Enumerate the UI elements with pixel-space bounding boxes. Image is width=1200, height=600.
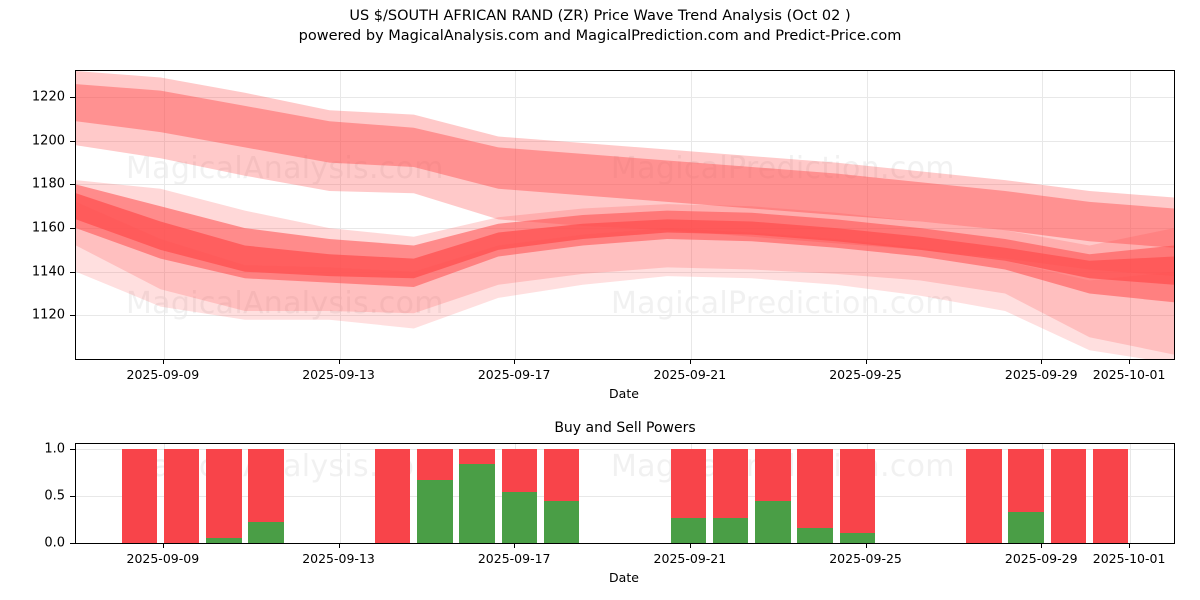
buy-power-segment <box>671 518 706 543</box>
sell-power-segment <box>1093 449 1128 543</box>
buy-power-segment <box>206 538 241 543</box>
power-bar[interactable] <box>1051 449 1086 543</box>
power-bar[interactable] <box>797 449 832 543</box>
buy-power-segment <box>797 528 832 543</box>
buy-sell-powers-plot: MagicalAnalysis.comMagicalPrediction.com <box>75 443 1175 544</box>
power-bar[interactable] <box>122 449 157 543</box>
sell-power-segment <box>206 449 241 543</box>
power-bar[interactable] <box>966 449 1001 543</box>
buy-power-segment <box>840 533 875 543</box>
buy-power-segment <box>755 501 790 543</box>
x-tick-label: 2025-09-17 <box>478 551 551 566</box>
x-tick-mark <box>1129 544 1130 548</box>
x-tick-label: 2025-09-29 <box>1005 551 1078 566</box>
x-tick-label: 2025-09-29 <box>1005 367 1078 382</box>
sell-power-segment <box>164 449 199 543</box>
power-bar[interactable] <box>544 449 579 543</box>
power-bar[interactable] <box>375 449 410 543</box>
x-tick-label: 2025-09-09 <box>127 367 200 382</box>
x-tick-mark <box>690 544 691 548</box>
power-bar[interactable] <box>459 449 494 543</box>
y-tick-label: 0.5 <box>44 488 65 503</box>
sell-power-segment <box>966 449 1001 543</box>
page-title: US $/SOUTH AFRICAN RAND (ZR) Price Wave … <box>0 6 1200 46</box>
y-tick-label: 1120 <box>32 308 65 323</box>
x-tick-mark <box>866 360 867 364</box>
buy-power-segment <box>417 480 452 543</box>
power-bar[interactable] <box>206 449 241 543</box>
x-tick-label: 2025-09-09 <box>127 551 200 566</box>
x-tick-label: 2025-09-25 <box>829 367 902 382</box>
x-tick-mark <box>514 544 515 548</box>
x-tick-mark <box>339 360 340 364</box>
sell-power-segment <box>1051 449 1086 543</box>
y-tick-label: 1200 <box>32 133 65 148</box>
x-tick-label: 2025-09-21 <box>654 551 727 566</box>
x-tick-label: 2025-09-25 <box>829 551 902 566</box>
sell-power-segment <box>375 449 410 543</box>
x-tick-mark <box>514 360 515 364</box>
buy-power-segment <box>1008 512 1043 543</box>
sell-power-segment <box>122 449 157 543</box>
x-tick-mark <box>339 544 340 548</box>
y-tick-label: 0.0 <box>44 536 65 551</box>
power-bar[interactable] <box>840 449 875 543</box>
power-y-axis-ticks: 0.00.51.0 <box>0 443 75 544</box>
power-bar[interactable] <box>671 449 706 543</box>
x-tick-mark <box>1041 544 1042 548</box>
y-tick-label: 1160 <box>32 221 65 236</box>
x-tick-mark <box>866 544 867 548</box>
power-bar[interactable] <box>1008 449 1043 543</box>
y-tick-label: 1180 <box>32 177 65 192</box>
y-tick-label: 1.0 <box>44 441 65 456</box>
chart-page: US $/SOUTH AFRICAN RAND (ZR) Price Wave … <box>0 0 1200 600</box>
buy-power-segment <box>248 522 283 543</box>
sell-power-segment <box>840 449 875 543</box>
buy-power-segment <box>544 501 579 543</box>
x-tick-mark <box>1129 360 1130 364</box>
title-line-1: US $/SOUTH AFRICAN RAND (ZR) Price Wave … <box>0 6 1200 26</box>
x-tick-label: 2025-09-21 <box>654 367 727 382</box>
y-tick-label: 1220 <box>32 90 65 105</box>
power-bar[interactable] <box>1093 449 1128 543</box>
power-bar[interactable] <box>248 449 283 543</box>
price-wave-bands <box>76 71 1174 359</box>
power-bar[interactable] <box>502 449 537 543</box>
price-x-axis-title: Date <box>75 386 1173 401</box>
x-tick-label: 2025-09-13 <box>302 367 375 382</box>
buy-power-segment <box>713 518 748 543</box>
x-tick-label: 2025-09-13 <box>302 551 375 566</box>
price-wave-plot: MagicalAnalysis.comMagicalPrediction.com… <box>75 70 1175 360</box>
x-tick-mark <box>690 360 691 364</box>
power-chart-title: Buy and Sell Powers <box>75 420 1175 436</box>
x-tick-mark <box>163 360 164 364</box>
power-bar[interactable] <box>713 449 748 543</box>
buy-power-segment <box>502 492 537 543</box>
power-bar[interactable] <box>755 449 790 543</box>
x-tick-label: 2025-09-17 <box>478 367 551 382</box>
price-y-axis-ticks: 112011401160118012001220 <box>0 70 75 360</box>
power-x-axis-title: Date <box>75 570 1173 585</box>
x-tick-mark <box>1041 360 1042 364</box>
x-tick-label: 2025-10-01 <box>1093 367 1166 382</box>
x-tick-label: 2025-10-01 <box>1093 551 1166 566</box>
power-bar[interactable] <box>164 449 199 543</box>
power-bar[interactable] <box>417 449 452 543</box>
title-line-2: powered by MagicalAnalysis.com and Magic… <box>0 26 1200 46</box>
buy-power-segment <box>459 464 494 543</box>
y-tick-label: 1140 <box>32 264 65 279</box>
x-tick-mark <box>163 544 164 548</box>
